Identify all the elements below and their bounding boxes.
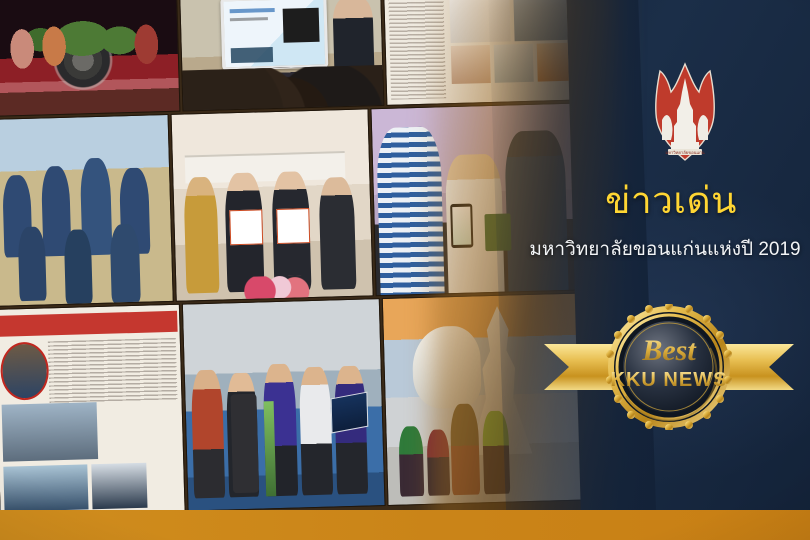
bottom-gold-bar	[0, 510, 810, 540]
photo-image	[0, 305, 185, 516]
photo-solar-innovation-group[interactable]	[183, 299, 385, 510]
badge-main-label: KKU NEWS	[611, 369, 728, 391]
photo-newspaper-drone[interactable]	[0, 305, 185, 516]
poster-subtitle: มหาวิทยาลัยขอนแก่นแห่งปี 2019	[520, 240, 810, 261]
photo-image	[172, 109, 373, 300]
audience-heads	[182, 65, 383, 111]
photo-cannabis-medicine-clipping[interactable]	[384, 0, 582, 105]
photo-image	[0, 0, 179, 116]
poster-title: ข่าวเด่น	[540, 182, 802, 219]
logo-motto-text: มหาวิทยาลัยขอนแก่น	[665, 150, 704, 155]
kku-logo: มหาวิทยาลัยขอนแก่น	[648, 62, 722, 168]
photo-g20-presentation[interactable]	[180, 0, 383, 111]
best-kku-news-badge[interactable]: Best KKU NEWS	[538, 292, 800, 442]
photo-image	[183, 299, 385, 510]
photo-mou-signing[interactable]	[172, 109, 373, 300]
photo-mosaic	[0, 0, 581, 540]
photo-image	[384, 0, 582, 105]
presentation-slide	[220, 0, 328, 70]
photo-gong-ceremony[interactable]	[0, 0, 179, 116]
badge-seal-icon: Best KKU NEWS	[606, 304, 732, 430]
photo-rice-harvest[interactable]	[0, 115, 173, 306]
kku-emblem-icon: มหาวิทยาลัยขอนแก่น	[648, 62, 722, 168]
photo-image	[0, 115, 173, 306]
poster-canvas: มหาวิทยาลัยขอนแก่น ข่าวเด่น มหาวิทยาลัยข…	[0, 0, 810, 540]
photo-image	[180, 0, 383, 111]
badge-script-label: Best	[641, 334, 697, 367]
